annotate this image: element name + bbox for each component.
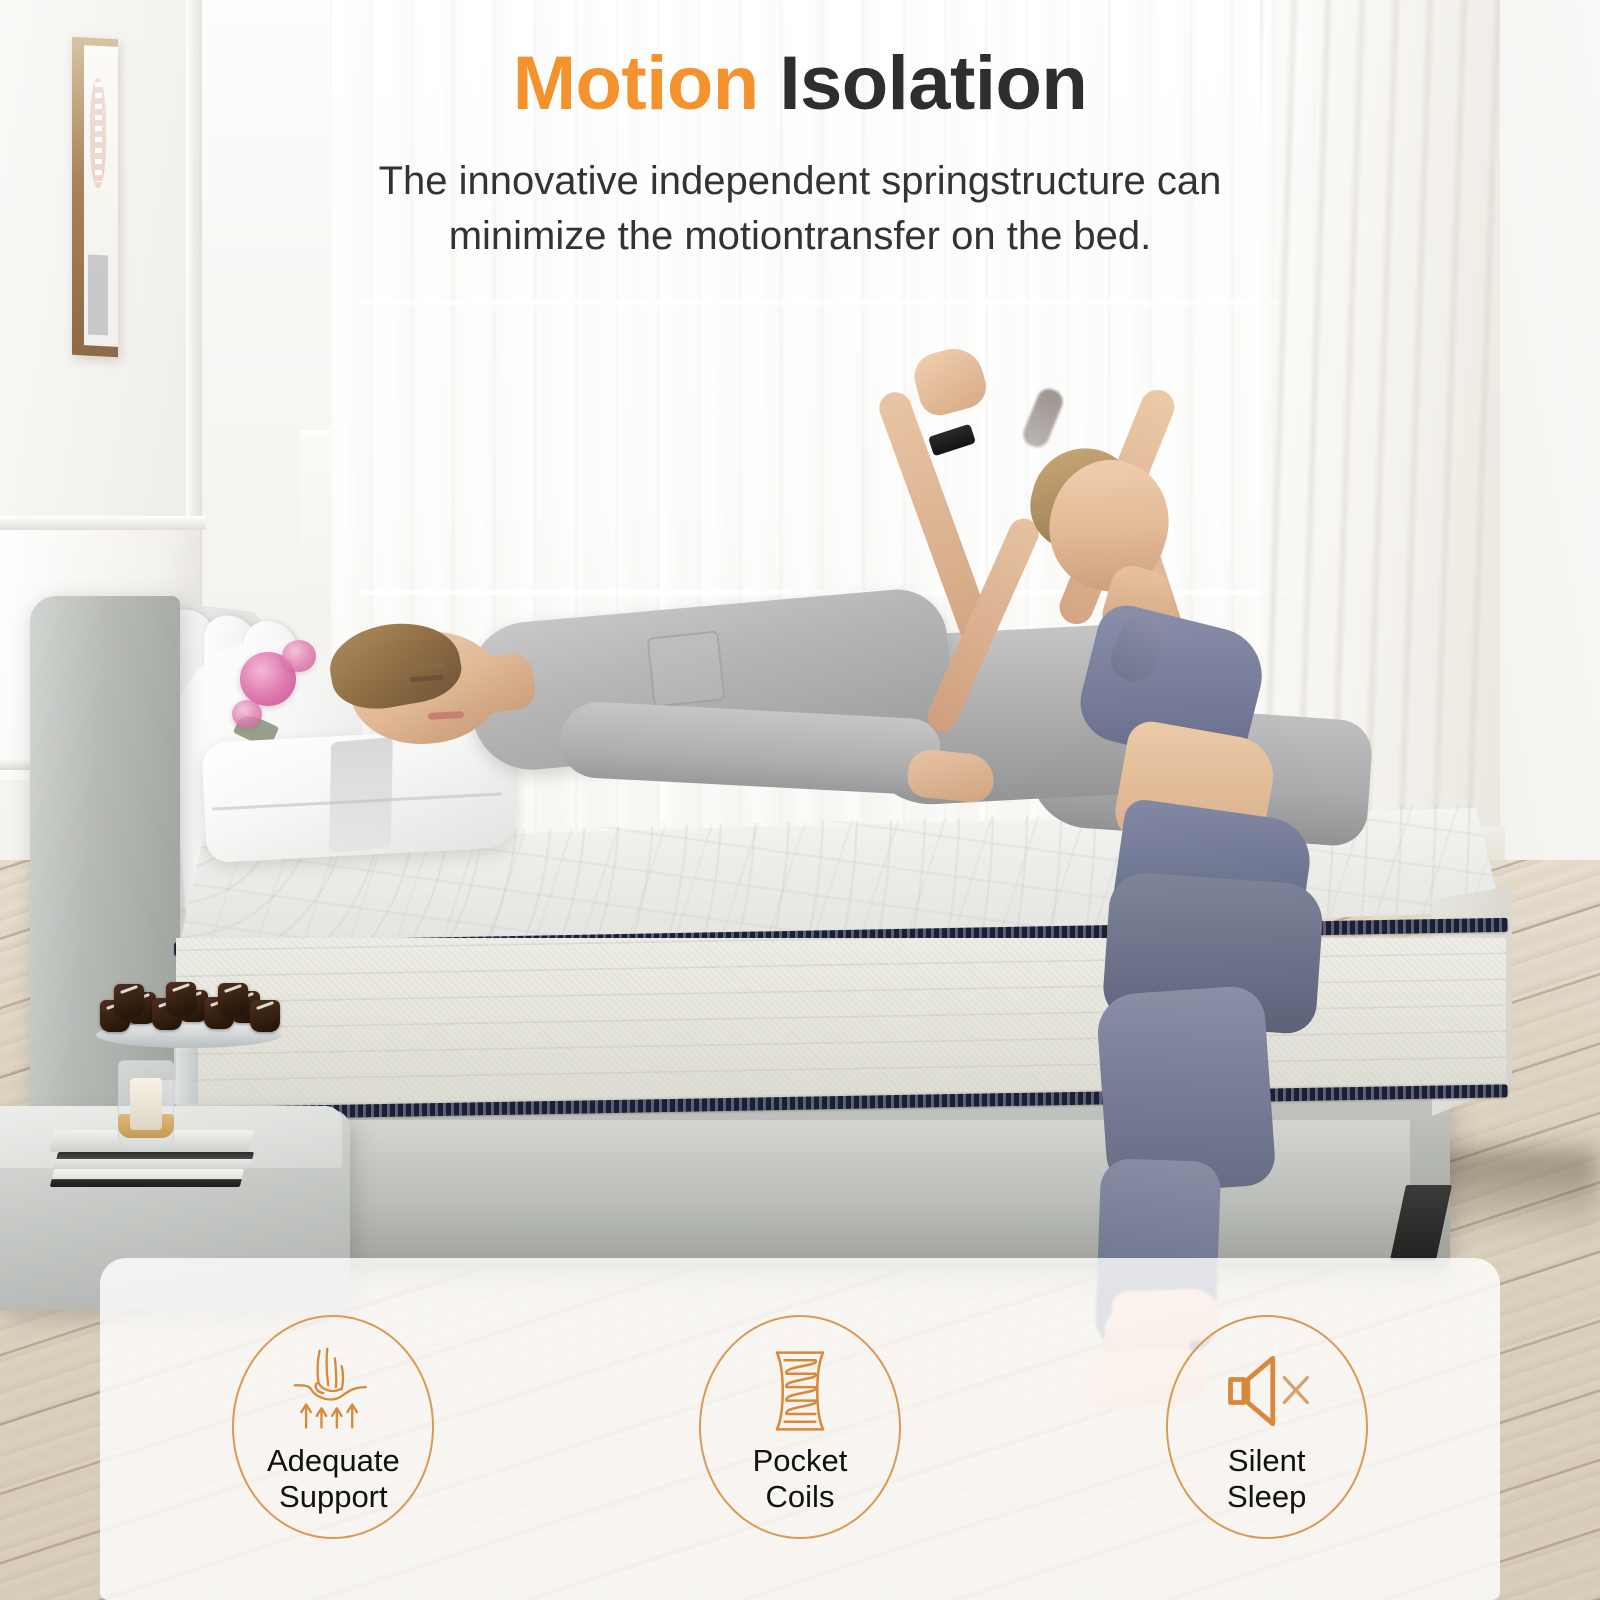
badge-label-line-1: Pocket (753, 1443, 848, 1479)
badge-label-line-1: Adequate (267, 1443, 400, 1479)
feature-badge-silent-sleep[interactable]: Silent Sleep (1033, 1317, 1500, 1541)
peony-flower-bud (232, 700, 262, 728)
badge-label-adequate-support: Adequate Support (267, 1443, 400, 1515)
man-shirt-pocket (647, 630, 726, 707)
chocolate-truffles (100, 988, 280, 1034)
badge-label-line-2: Coils (753, 1479, 848, 1515)
badge-label-line-2: Sleep (1227, 1479, 1306, 1515)
book-stack-middle (54, 1152, 254, 1169)
badge-label-silent-sleep: Silent Sleep (1227, 1443, 1306, 1515)
feature-badge-row: Adequate Support (100, 1258, 1500, 1600)
title-accent-word: Motion (513, 41, 759, 126)
subtitle-line-1: The innovative independent springstructu… (240, 154, 1360, 209)
stretching-woman (890, 330, 1350, 1280)
woman-wrist-watch (928, 424, 976, 457)
badge-label-line-1: Silent (1227, 1443, 1306, 1479)
hand-pressing-surface-icon (285, 1343, 381, 1439)
window-mullion-horizontal (360, 300, 1340, 305)
muted-speaker-icon (1219, 1343, 1315, 1439)
feature-badge-adequate-support[interactable]: Adequate Support (100, 1317, 567, 1541)
wall-art-grey-block (88, 254, 108, 335)
badge-label-pocket-coils: Pocket Coils (753, 1443, 848, 1515)
page-subtitle: The innovative independent springstructu… (240, 154, 1360, 264)
wall-crown-molding (0, 516, 206, 530)
pocket-coil-spring-icon (752, 1343, 848, 1439)
title-main-word: Isolation (779, 41, 1087, 126)
subtitle-line-2: minimize the motiontransfer on the bed. (240, 209, 1360, 264)
woman-clasped-hands (909, 342, 991, 419)
woman-arm-tattoo (1020, 385, 1067, 450)
page-title: Motion Isolation (0, 44, 1600, 124)
candle (130, 1078, 162, 1130)
book-stack-bottom (50, 1169, 244, 1187)
badge-label-line-2: Support (267, 1479, 400, 1515)
product-feature-image: Motion Isolation The innovative independ… (0, 0, 1600, 1600)
feature-badge-pocket-coils[interactable]: Pocket Coils (567, 1317, 1034, 1541)
